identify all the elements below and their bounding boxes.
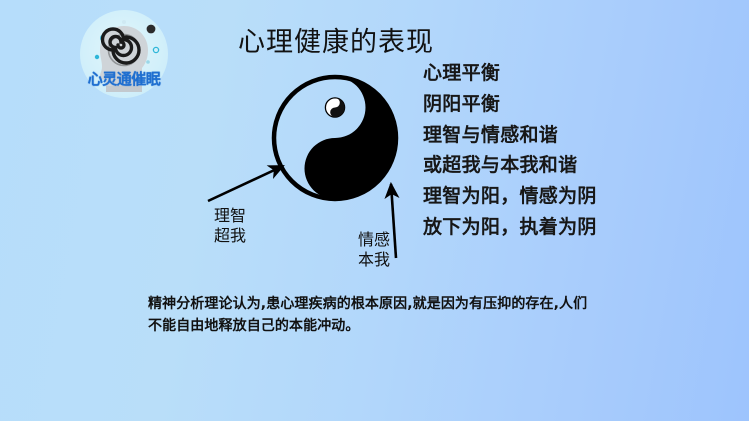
bullet-line: 或超我与本我和谐 [423,150,733,181]
bullet-line: 理智为阳，情感为阴 [423,181,733,212]
label-right-line2: 本我 [358,250,390,270]
label-left-line2: 超我 [214,226,246,246]
nested-yin-yang-eye [325,98,344,117]
paragraph-line: 精神分析理论认为,患心理疾病的根本原因,就是因为有压抑的存在,人们 [148,294,656,316]
label-right-line1: 情感 [358,230,390,250]
bullet-line: 放下为阳，执着为阴 [423,212,733,243]
bullet-line: 阴阳平衡 [423,89,733,120]
bullet-list: 心理平衡 阴阳平衡 理智与情感和谐 或超我与本我和谐 理智为阳，情感为阴 放下为… [423,58,733,243]
body-paragraph: 精神分析理论认为,患心理疾病的根本原因,就是因为有压抑的存在,人们 不能自由地释… [148,294,656,337]
paragraph-line: 不能自由地释放自己的本能冲动。 [148,316,656,338]
bullet-line: 心理平衡 [423,58,733,89]
brand-logo: 心灵通催眠 [80,10,168,98]
label-left-rational-superego: 理智 超我 [214,206,246,245]
yin-yang-taiji-symbol [271,74,399,202]
slide-canvas: 心灵通催眠 心理健康的表现 理智 超我 [0,0,749,421]
bullet-line: 理智与情感和谐 [423,120,733,151]
label-right-emotion-id: 情感 本我 [358,230,390,269]
logo-wordmark: 心灵通催眠 [80,72,168,87]
label-left-line1: 理智 [214,206,246,226]
page-title: 心理健康的表现 [238,20,434,59]
